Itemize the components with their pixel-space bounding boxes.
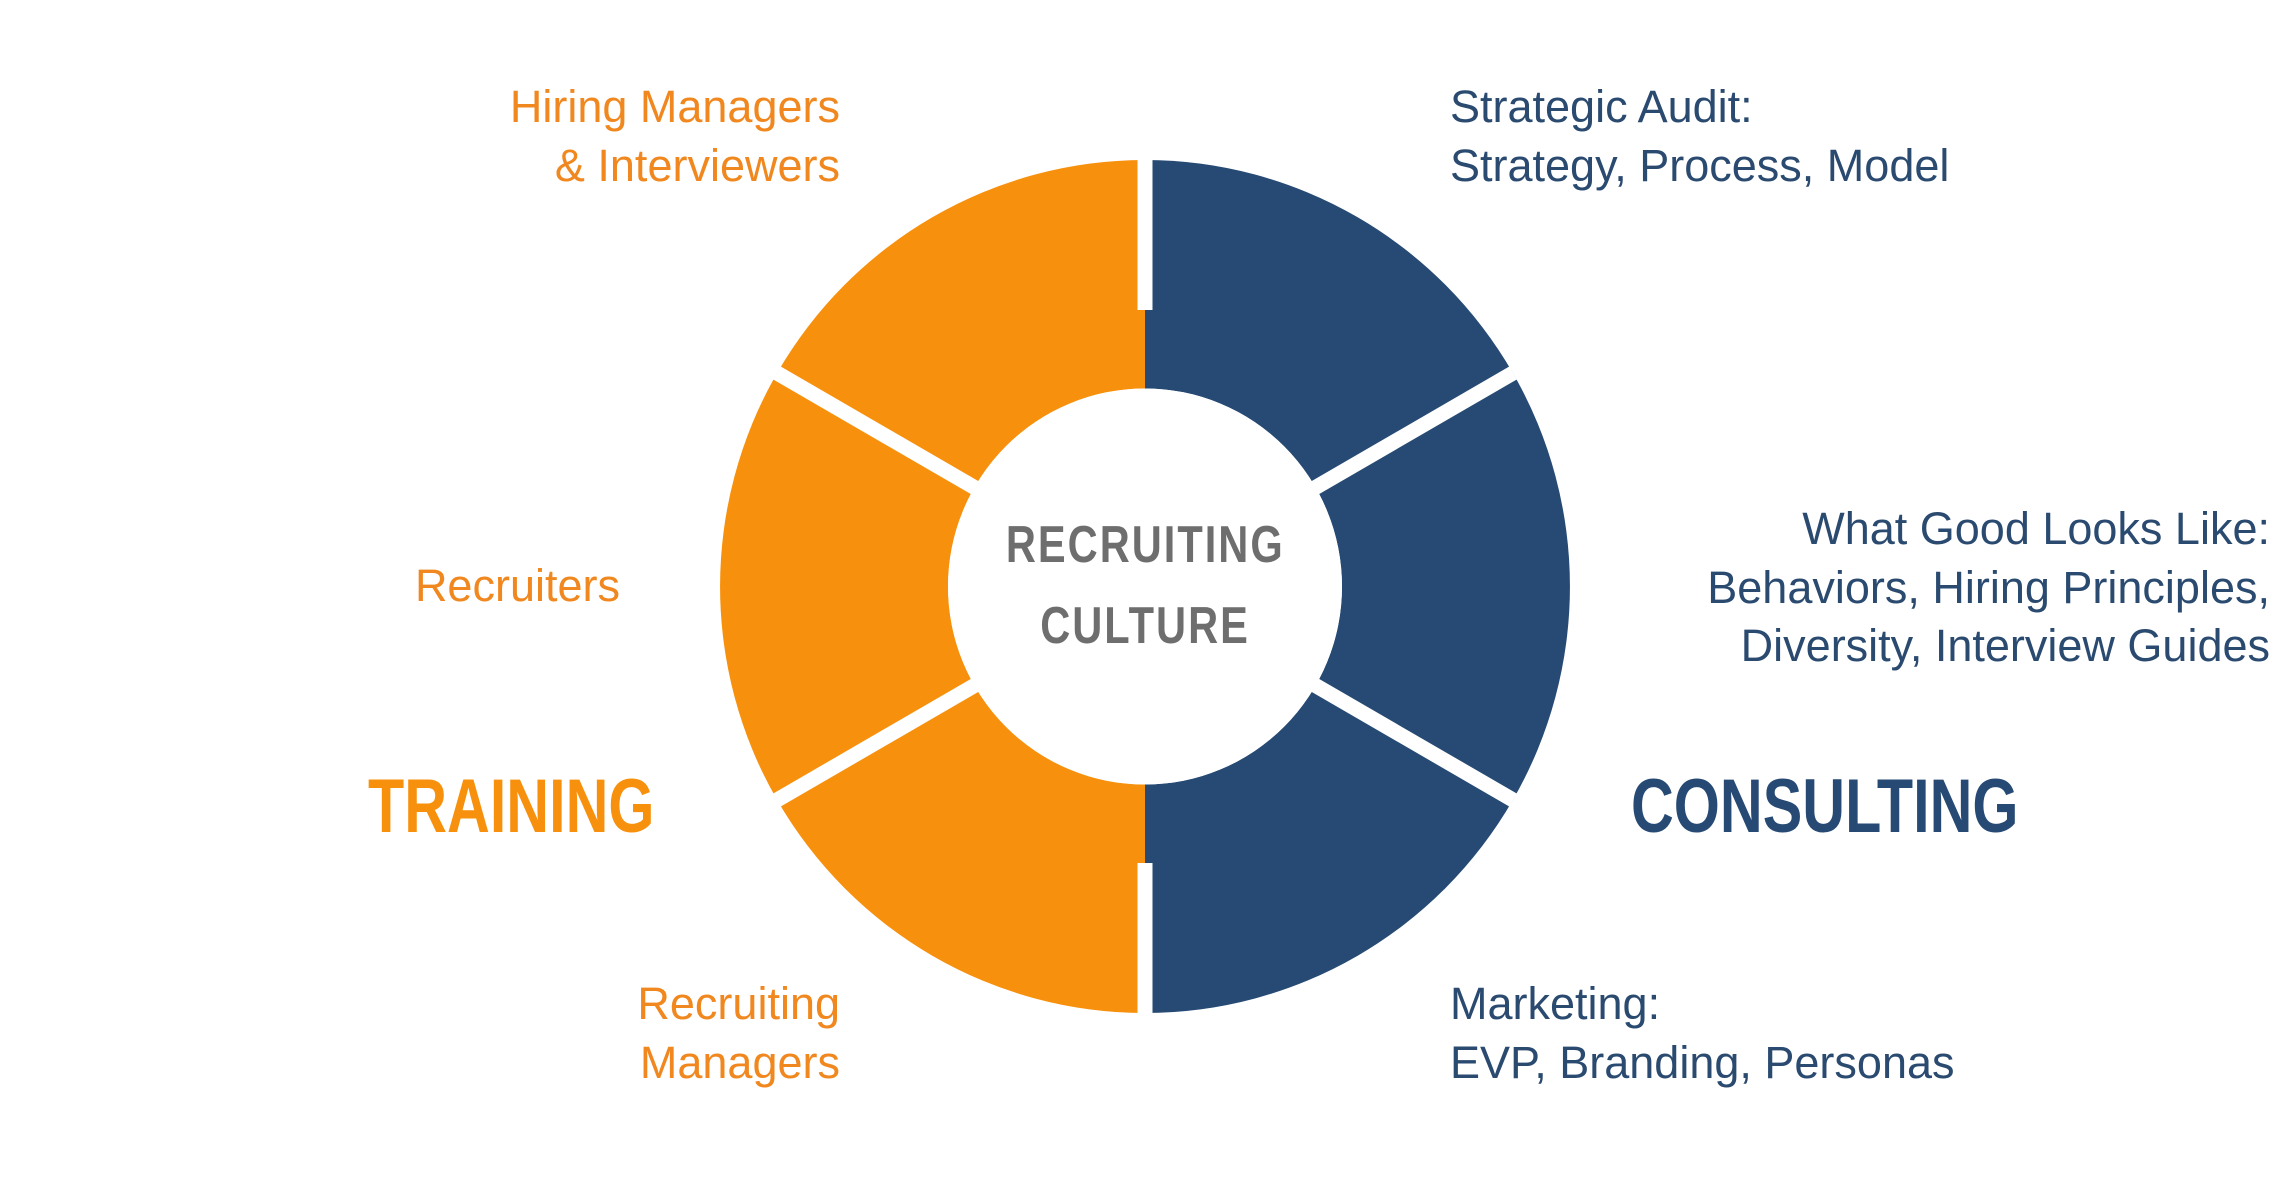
donut-hub-disc bbox=[948, 389, 1342, 785]
segment-label-training-middle: Recruiters bbox=[200, 557, 620, 616]
donut-svg bbox=[720, 160, 1570, 1013]
segment-label-consulting-middle: What Good Looks Like: Behaviors, Hiring … bbox=[1480, 500, 2270, 676]
segment-label-consulting-bottom: Marketing: EVP, Branding, Personas bbox=[1450, 975, 2150, 1092]
segment-label-training-bottom: Recruiting Managers bbox=[320, 975, 840, 1092]
diagram-canvas: RECRUITING CULTURE TRAINING CONSULTING H… bbox=[0, 0, 2280, 1179]
category-heading-training: TRAINING bbox=[368, 769, 655, 845]
segment-label-training-top: Hiring Managers & Interviewers bbox=[300, 78, 840, 195]
segment-label-consulting-top: Strategic Audit: Strategy, Process, Mode… bbox=[1450, 78, 2110, 195]
recruiting-culture-donut bbox=[720, 160, 1570, 1013]
